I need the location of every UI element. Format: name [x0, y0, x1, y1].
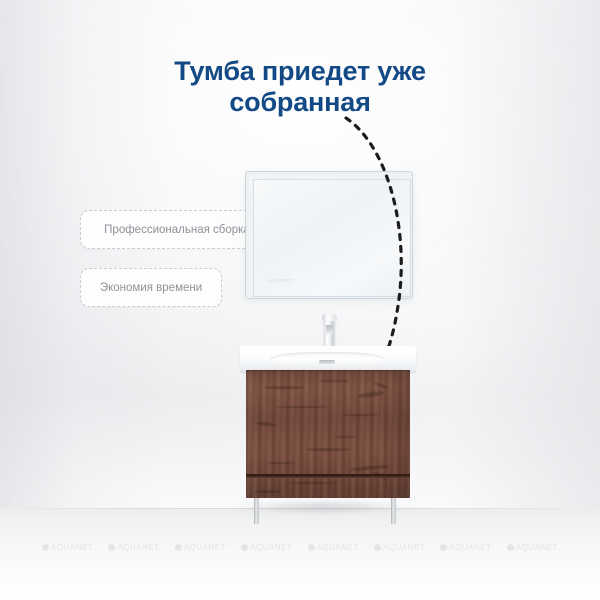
aquanet-logo-icon: [42, 544, 49, 551]
watermark: AQUANET: [175, 543, 226, 552]
watermark-strip: AQUANET AQUANET AQUANET AQUANET AQUANET …: [0, 537, 600, 557]
cabinet-body: [246, 370, 410, 498]
watermark: AQUANET: [374, 543, 425, 552]
aquanet-logo-icon: [108, 544, 115, 551]
watermark-label: AQUANET: [250, 543, 292, 552]
cabinet-leg-left: [254, 498, 259, 524]
watermark-label: AQUANET: [383, 543, 425, 552]
mirror-brand-logo: AQUANET: [267, 278, 293, 283]
watermark-label: AQUANET: [449, 543, 491, 552]
cabinet-top-edge: [246, 370, 410, 372]
watermark-label: AQUANET: [516, 543, 558, 552]
feature-badge-label: Профессиональная сборка: [104, 224, 250, 236]
drawer-divider-gap: [246, 474, 410, 478]
watermark-label: AQUANET: [117, 543, 159, 552]
watermark: AQUANET: [440, 543, 491, 552]
watermark: AQUANET: [42, 543, 93, 552]
sink-countertop: [240, 346, 416, 372]
feature-badge-label: Экономия времени: [100, 282, 202, 294]
aquanet-logo-icon: [440, 544, 447, 551]
watermark-label: AQUANET: [184, 543, 226, 552]
watermark-label: AQUANET: [51, 543, 93, 552]
promo-image-scene: Тумба приедет уже собранная Профессионал…: [0, 0, 600, 600]
watermark: AQUANET: [241, 543, 292, 552]
aquanet-logo-icon: [175, 544, 182, 551]
faucet-spout: [322, 314, 337, 321]
watermark: AQUANET: [507, 543, 558, 552]
cabinet-leg-right: [391, 498, 396, 524]
watermark: AQUANET: [308, 543, 359, 552]
page-title: Тумба приедет уже собранная: [60, 56, 540, 118]
headline-line-1: Тумба приедет уже: [60, 56, 540, 87]
watermark-label: AQUANET: [317, 543, 359, 552]
watermark: AQUANET: [108, 543, 159, 552]
aquanet-logo-icon: [241, 544, 248, 551]
arrow-dashed-path: [346, 118, 401, 376]
aquanet-logo-icon: [374, 544, 381, 551]
headline-line-2: собранная: [60, 87, 540, 118]
aquanet-logo-icon: [507, 544, 514, 551]
aquanet-logo-icon: [308, 544, 315, 551]
sink-overflow-slot: [319, 360, 335, 364]
vanity-floor-shadow: [232, 500, 414, 514]
feature-badge-time-saving: Экономия времени: [80, 268, 222, 307]
faucet-lever: [326, 325, 333, 334]
